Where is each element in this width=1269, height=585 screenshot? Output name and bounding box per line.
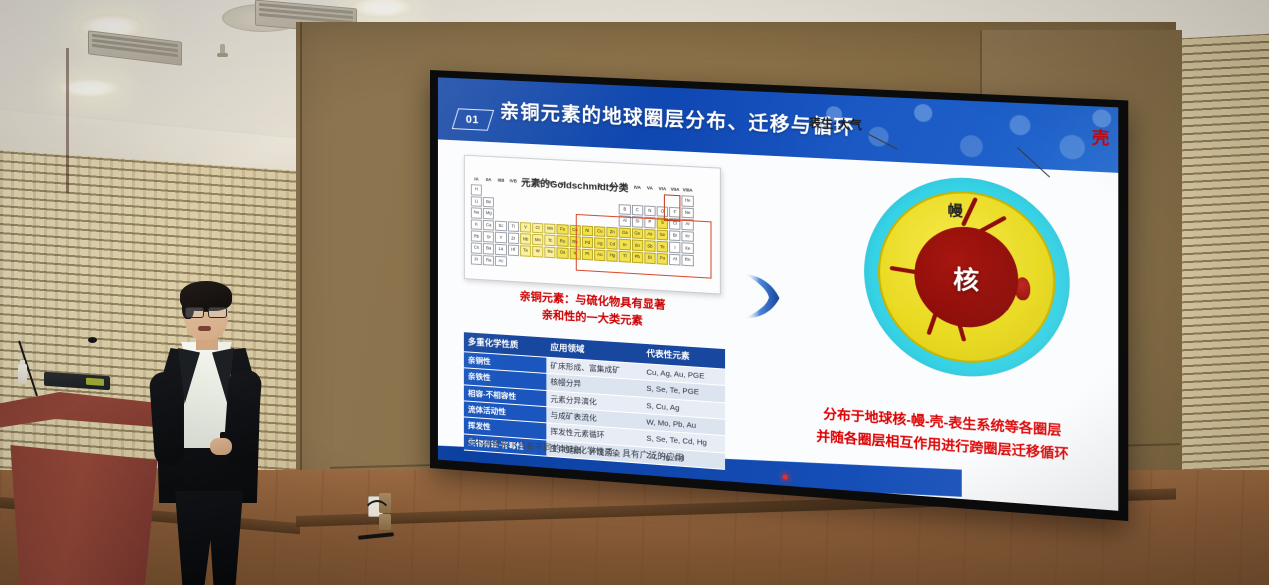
- water-bottle: [18, 364, 27, 384]
- element-cell: Pb: [632, 252, 643, 263]
- element-cell: Ag: [594, 238, 605, 249]
- screen-surface: 01 亲铜元素的地球圈层分布、迁移与循环 元素的Goldschmidt分类 HH…: [438, 77, 1118, 510]
- blue-arrow-icon: [744, 263, 803, 332]
- element-cell: Zr: [508, 233, 519, 244]
- element-cell: Cl: [669, 218, 681, 229]
- element-cell: Li: [471, 196, 482, 207]
- presentation-slide: 01 亲铜元素的地球圈层分布、迁移与循环 元素的Goldschmidt分类 HH…: [438, 77, 1118, 510]
- group-label: IIB: [607, 182, 618, 191]
- element-cell: I: [669, 242, 681, 253]
- element-cell: Ra: [483, 255, 494, 266]
- element-cell: Po: [657, 253, 669, 264]
- conference-room-photo: 01 亲铜元素的地球圈层分布、迁移与循环 元素的Goldschmidt分类 HH…: [0, 0, 1269, 585]
- red-caption: 亲铜元素：与硫化物具有显著 亲和性的一大类元素: [462, 285, 725, 336]
- element-cell: Fr: [471, 254, 482, 265]
- earth-layers-diagram: 核 幔: [864, 173, 1070, 383]
- element-cell: Kr: [682, 231, 694, 242]
- element-cell: He: [682, 195, 694, 206]
- section-number-text: 01: [466, 113, 479, 126]
- element-cell: Hf: [508, 244, 519, 255]
- element-cell: Mn: [545, 223, 556, 234]
- element-cell: Sb: [644, 240, 656, 251]
- element-cell: Ti: [508, 221, 519, 232]
- mantle-label: 幔: [948, 200, 963, 222]
- presenter: [148, 286, 268, 585]
- element-cell: Cs: [471, 242, 482, 253]
- element-cell: Xe: [682, 243, 694, 254]
- group-label: VIIB: [545, 179, 556, 188]
- section-number-badge: 01: [452, 108, 494, 130]
- element-cell: H: [471, 184, 482, 195]
- glasses-icon: [184, 307, 228, 317]
- element-cell: Pd: [582, 237, 593, 248]
- element-cell: Bi: [644, 252, 656, 263]
- group-label: IIA: [483, 176, 494, 185]
- element-cell: Ar: [682, 219, 694, 230]
- element-cell: Ta: [520, 245, 531, 256]
- element-cell: Ba: [483, 243, 494, 254]
- element-cell: Si: [632, 216, 643, 227]
- element-cell: Tl: [619, 251, 630, 262]
- element-cell: Co: [569, 225, 580, 236]
- element-cell: Ni: [582, 225, 593, 236]
- element-cell: Zn: [607, 227, 618, 238]
- microphone-head: [88, 337, 97, 343]
- element-cell: Ru: [557, 236, 568, 247]
- element-cell: Rb: [471, 231, 482, 242]
- group-label: IVB: [508, 177, 519, 186]
- element-cell: Re: [545, 247, 556, 258]
- element-cell: Ca: [483, 220, 494, 231]
- projection-screen: 01 亲铜元素的地球圈层分布、迁移与循环 元素的Goldschmidt分类 HH…: [430, 70, 1128, 521]
- element-cell: Ga: [619, 227, 630, 238]
- group-label: IB: [594, 182, 605, 191]
- element-cell: Y: [495, 232, 506, 243]
- element-cell: Rh: [569, 236, 580, 247]
- group-label: VB: [520, 178, 531, 187]
- sprinkler-head: [220, 44, 225, 57]
- periodic-table-grid: HHeLiBeBCNOFNeNaMgAlSiPSClArKCaScTiVCrMn…: [469, 162, 716, 288]
- group-label: VIII: [557, 180, 568, 189]
- element-cell: Sn: [632, 240, 643, 251]
- element-cell: Hg: [607, 250, 618, 261]
- element-cell: Ge: [632, 228, 643, 239]
- laser-pointer-dot: [783, 474, 788, 480]
- group-label: VA: [644, 184, 656, 193]
- element-cell: W: [532, 246, 543, 257]
- element-cell: Na: [471, 207, 482, 218]
- element-cell: Sr: [483, 231, 494, 242]
- element-cell: Mg: [483, 208, 494, 219]
- panel-seam: [300, 22, 302, 522]
- element-cell: O: [657, 206, 669, 217]
- group-label: VIIIA: [682, 186, 694, 195]
- element-cell: Ne: [682, 207, 694, 218]
- element-cell: V: [520, 222, 531, 233]
- element-cell: F: [669, 206, 681, 217]
- group-label: IIIB: [495, 176, 506, 185]
- element-cell: Rn: [682, 254, 694, 265]
- element-cell: Nb: [520, 233, 531, 244]
- element-cell: Cd: [607, 238, 618, 249]
- podium-edge: [66, 48, 69, 193]
- conclusion-text: 分布于地球核-幔-壳-表生系统等各圈层 并随各圈层相互作用进行跨圈层迁移循环: [782, 400, 1105, 467]
- element-cell: Se: [657, 229, 669, 240]
- surface-atmosphere-label: 表生·大气: [809, 114, 862, 133]
- element-cell: La: [495, 244, 506, 255]
- element-cell: At: [669, 254, 681, 265]
- element-cell: N: [644, 205, 656, 216]
- element-cell: Cr: [532, 222, 543, 233]
- element-cell: Ac: [495, 255, 506, 266]
- element-cell: B: [619, 204, 630, 215]
- element-cell: Sc: [495, 220, 506, 231]
- element-cell: In: [619, 239, 630, 250]
- presenter-mouth: [198, 326, 211, 331]
- periodic-table-figure: 元素的Goldschmidt分类 HHeLiBeBCNOFNeNaMgAlSiP…: [464, 155, 721, 295]
- element-cell: As: [644, 229, 656, 240]
- element-cell: Be: [483, 196, 494, 207]
- element-cell: C: [632, 204, 643, 215]
- element-cell: Ir: [569, 248, 580, 259]
- element-cell: Pt: [582, 249, 593, 260]
- group-label: IVA: [632, 183, 643, 192]
- crust-label: 壳: [1092, 123, 1110, 149]
- element-cell: Au: [594, 249, 605, 260]
- element-cell: Os: [557, 247, 568, 258]
- presenter-hand: [210, 438, 232, 455]
- element-cell: K: [471, 219, 482, 230]
- element-cell: Br: [669, 230, 681, 241]
- group-label: VIB: [532, 178, 543, 187]
- podium-body: [4, 436, 164, 585]
- group-label: VIIA: [669, 185, 681, 194]
- element-cell: P: [644, 217, 656, 228]
- element-cell: Te: [657, 241, 669, 252]
- group-label: IA: [471, 175, 482, 184]
- element-cell: Tc: [545, 235, 556, 246]
- element-cell: S: [657, 218, 669, 229]
- group-label: IIIA: [619, 183, 630, 192]
- element-cell: Cu: [594, 226, 605, 237]
- core-label: 核: [953, 258, 979, 296]
- element-cell: Mo: [532, 234, 543, 245]
- element-cell: Al: [619, 216, 630, 227]
- presenter-legs: [172, 491, 246, 585]
- group-label: VIA: [657, 185, 669, 194]
- element-cell: Fe: [557, 224, 568, 235]
